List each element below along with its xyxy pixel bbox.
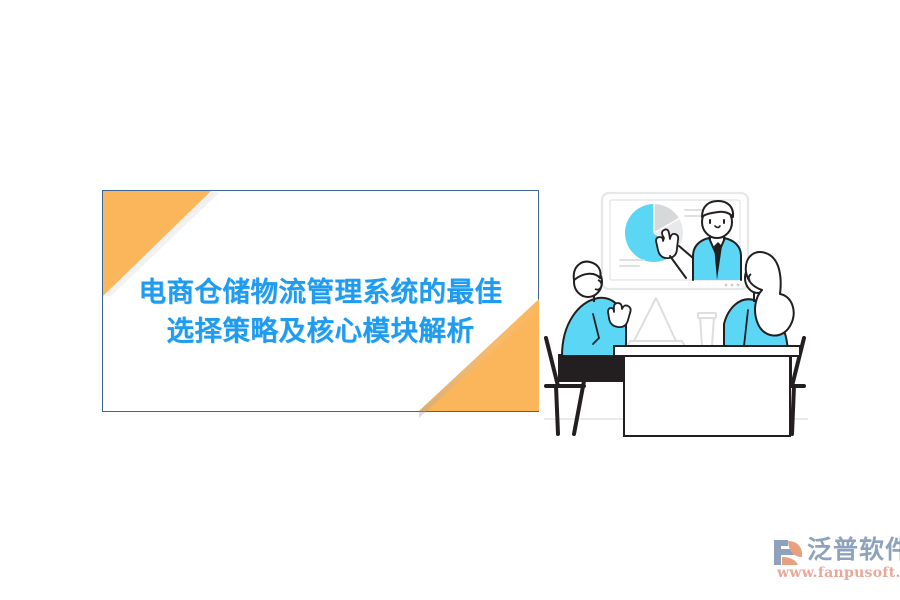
table [614,346,800,436]
brand-logo[interactable]: 泛普软件 www.fanpusoft.com [772,534,892,584]
screen-status-dots [725,284,740,287]
logo-url-text: www.fanpusoft.com [777,565,900,582]
logo-brand-text: 泛普软件 [807,534,900,565]
laptop [626,298,686,348]
poster-canvas: 电商仓储物流管理系统的最佳 选择策略及核心模块解析 [0,0,900,600]
video-conference-illustration [536,186,816,438]
fanpu-f-mark-icon [772,537,806,568]
video-call-screen [602,193,748,289]
title-card: 电商仓储物流管理系统的最佳 选择策略及核心模块解析 [102,190,539,412]
cup [698,313,716,346]
page-title: 电商仓储物流管理系统的最佳 选择策略及核心模块解析 [103,273,538,351]
